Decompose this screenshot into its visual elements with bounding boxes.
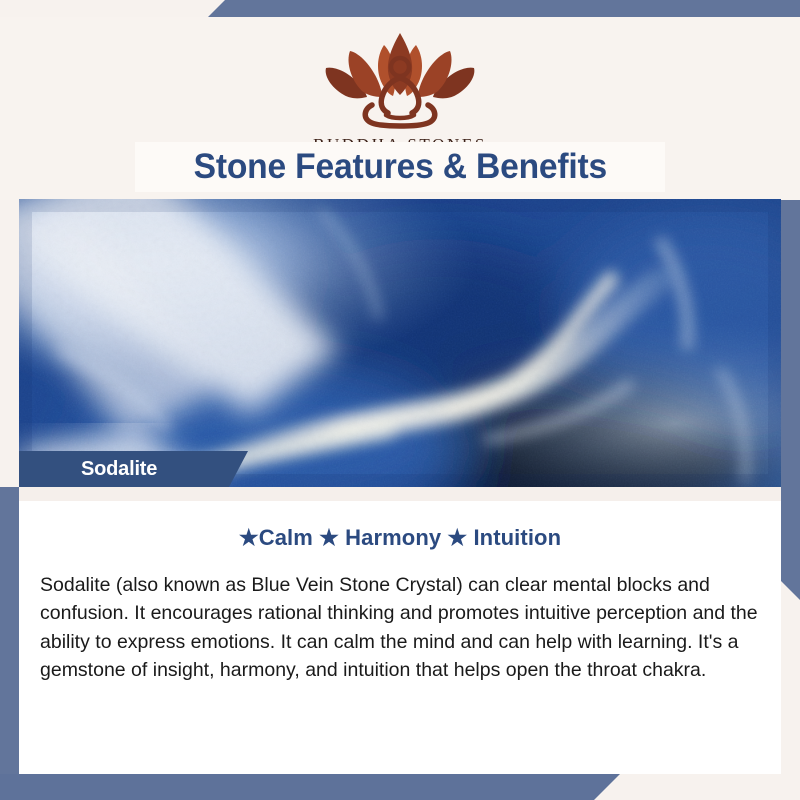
frame-top-right-bar xyxy=(208,0,800,17)
title-banner: Stone Features & Benefits xyxy=(135,142,665,192)
divider-strip xyxy=(19,487,781,501)
page-title: Stone Features & Benefits xyxy=(193,147,606,187)
stone-name-label: Sodalite xyxy=(81,458,157,481)
lotus-meditation-icon xyxy=(0,25,800,133)
brand-logo: BUDDHA STONES xyxy=(0,25,800,155)
frame-bottom-bar xyxy=(0,774,620,800)
content-section: ★Calm ★ Harmony ★ Intuition Sodalite (al… xyxy=(19,501,781,774)
stone-name-tag: Sodalite xyxy=(19,451,248,487)
stone-keywords: ★Calm ★ Harmony ★ Intuition xyxy=(19,525,781,551)
stone-description: Sodalite (also known as Blue Vein Stone … xyxy=(40,571,761,684)
sodalite-stone-photo xyxy=(19,199,781,487)
poster-root: BUDDHA STONES Stone Features & Benefits xyxy=(0,0,800,800)
frame-left-bar xyxy=(0,487,19,783)
